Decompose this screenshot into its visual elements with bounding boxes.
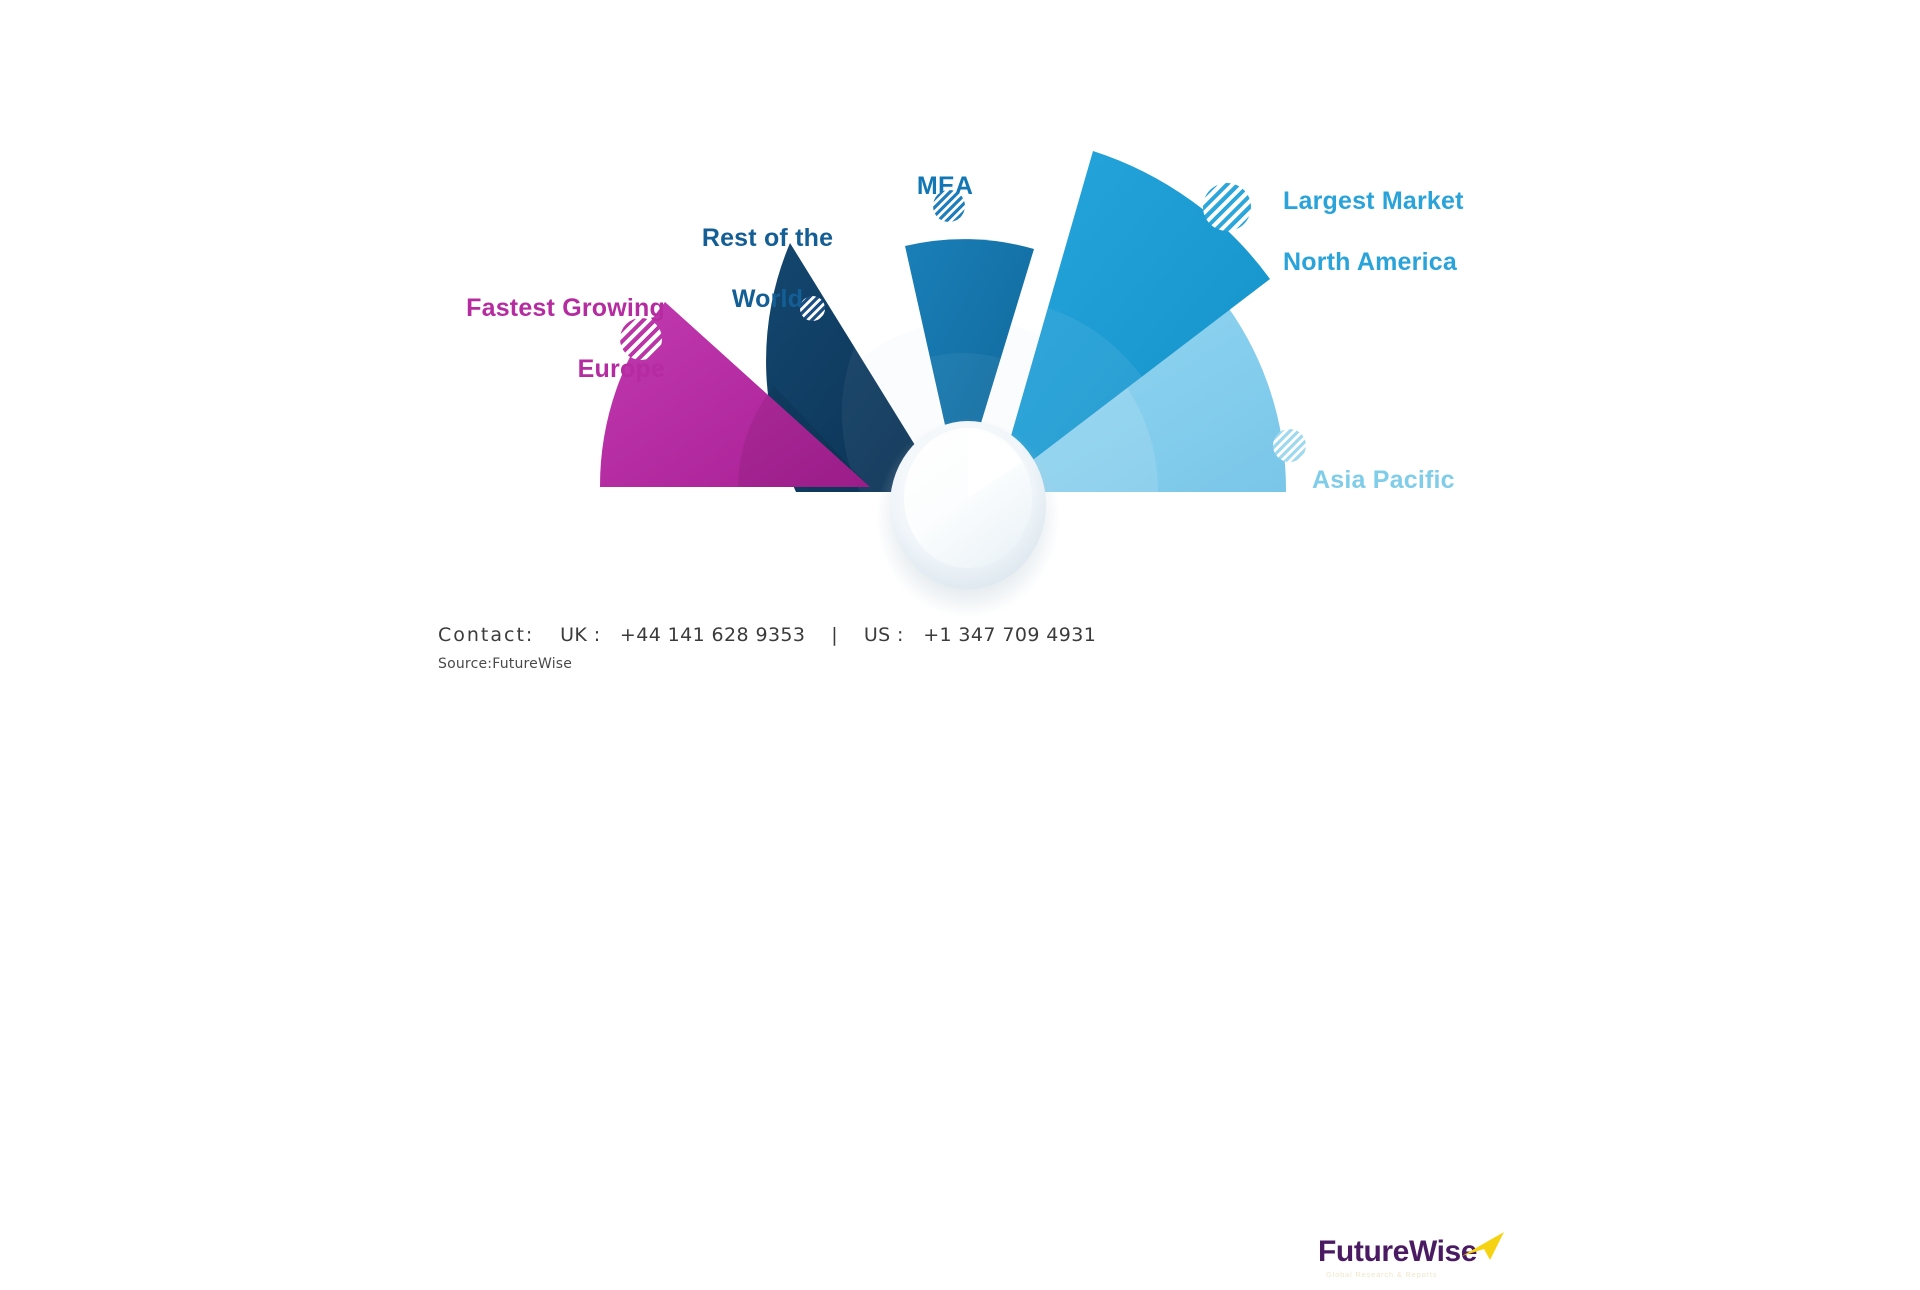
europe-marker-icon — [620, 318, 662, 360]
label-rest-of-world-line2: World — [660, 284, 875, 315]
label-asia-pacific[interactable]: Asia Pacific — [1312, 434, 1455, 526]
contact-uk-label: UK : — [560, 624, 600, 646]
north-america-marker-icon — [1203, 183, 1251, 231]
contact-us-label: US : — [864, 624, 904, 646]
logo-tagline: Global Research & Reports — [1326, 1270, 1437, 1279]
label-rest-of-world[interactable]: Rest of the World — [660, 192, 875, 345]
rest-of-world-marker-icon — [800, 296, 825, 321]
center-hub — [876, 418, 1060, 618]
futurewise-logo[interactable]: FutureWise Global Research & Reports — [1318, 1230, 1508, 1290]
label-europe-line1: Fastest Growing — [400, 293, 665, 324]
label-rest-of-world-line1: Rest of the — [660, 223, 875, 254]
label-europe-line2: Europe — [400, 354, 665, 385]
logo-wordmark: FutureWise — [1318, 1235, 1477, 1269]
asia-pacific-marker-icon — [1273, 429, 1306, 462]
contact-label: Contact: — [438, 624, 534, 646]
contact-line: Contact: UK : +44 141 628 9353 | US : +1… — [438, 624, 1096, 646]
footer: Contact: UK : +44 141 628 9353 | US : +1… — [0, 612, 1920, 684]
label-north-america[interactable]: Largest Market North America — [1283, 155, 1464, 308]
contact-us-number[interactable]: +1 347 709 4931 — [923, 624, 1096, 646]
mea-marker-icon — [933, 190, 965, 222]
logo-arrow-icon — [1460, 1230, 1506, 1264]
source-line: Source:FutureWise — [438, 656, 572, 672]
label-north-america-line2: North America — [1283, 247, 1464, 278]
contact-uk-number[interactable]: +44 141 628 9353 — [620, 624, 806, 646]
label-asia-pacific-line1: Asia Pacific — [1312, 465, 1455, 496]
contact-separator: | — [831, 624, 838, 646]
label-north-america-line1: Largest Market — [1283, 186, 1464, 217]
logo-word-future: Future — [1318, 1235, 1409, 1268]
infographic-canvas: Largest Market North America Asia Pacifi… — [0, 0, 1920, 684]
fan-chart-svg — [0, 0, 1920, 684]
regional-fan-chart — [0, 0, 1920, 684]
